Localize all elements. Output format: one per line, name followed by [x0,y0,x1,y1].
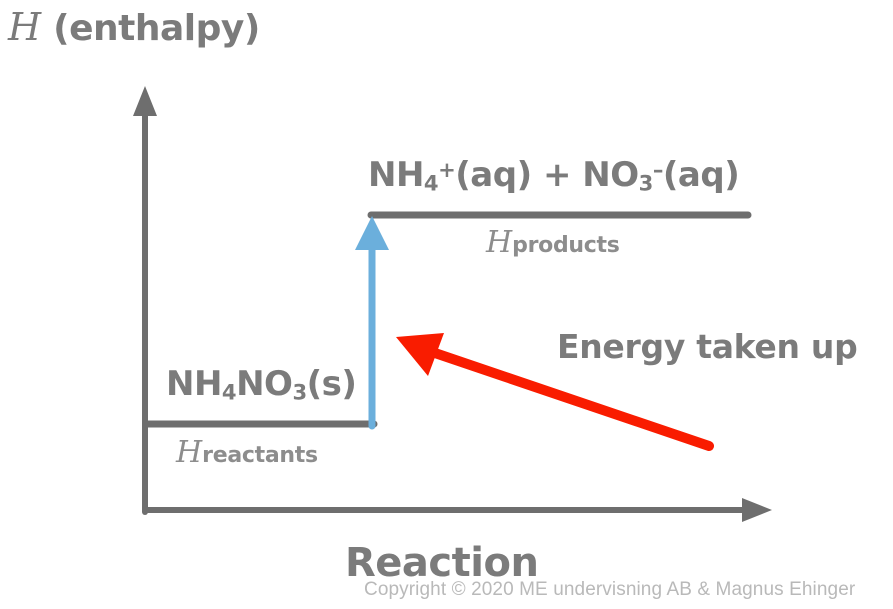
products-formula-sup1: + [438,157,455,182]
reactants-species-label: NH4NO3(s) [166,367,356,403]
y-axis-title: H (enthalpy) [8,8,260,47]
energy-absorbed-arrow [355,216,389,426]
products-caption-subscript: products [512,233,619,258]
products-formula-sub1: 4 [424,171,438,196]
reactants-formula-part2: NO [236,364,292,404]
products-formula-part3: (aq) [663,155,739,195]
reactants-formula-sub1: 4 [222,380,236,405]
energy-arrow-head-icon [355,216,389,250]
reactants-formula-sub2: 3 [292,380,306,405]
products-formula-sup2: – [653,157,663,182]
reactants-formula-part3: (s) [307,364,357,404]
y-axis [133,86,157,512]
energy-annotation-label: Energy taken up [557,330,857,363]
products-caption-symbol: H [486,225,512,260]
reactants-enthalpy-caption: Hreactants [176,438,318,468]
enthalpy-diagram-canvas: H (enthalpy) NH4+(aq) + NO3–(aq) Hproduc… [0,0,893,609]
y-axis-arrowhead-icon [133,86,157,116]
products-species-label: NH4+(aq) + NO3–(aq) [368,158,739,194]
y-axis-title-symbol: H [8,5,41,49]
diagram-graphics [0,0,893,609]
products-enthalpy-caption: Hproducts [486,228,620,258]
x-axis-title: Reaction [345,543,538,583]
reactants-formula-part1: NH [166,364,222,404]
products-formula-part1: NH [368,155,424,195]
annotation-arrow-shaft [432,352,709,446]
x-axis [145,498,772,522]
products-formula-sub2: 3 [639,171,653,196]
x-axis-arrowhead-icon [742,498,772,522]
y-axis-title-word: (enthalpy) [41,8,260,49]
copyright-watermark: Copyright © 2020 ME undervisning AB & Ma… [364,580,855,599]
reactants-caption-subscript: reactants [202,443,318,468]
products-formula-part2: (aq) + NO [455,155,638,195]
reactants-caption-symbol: H [176,435,202,470]
